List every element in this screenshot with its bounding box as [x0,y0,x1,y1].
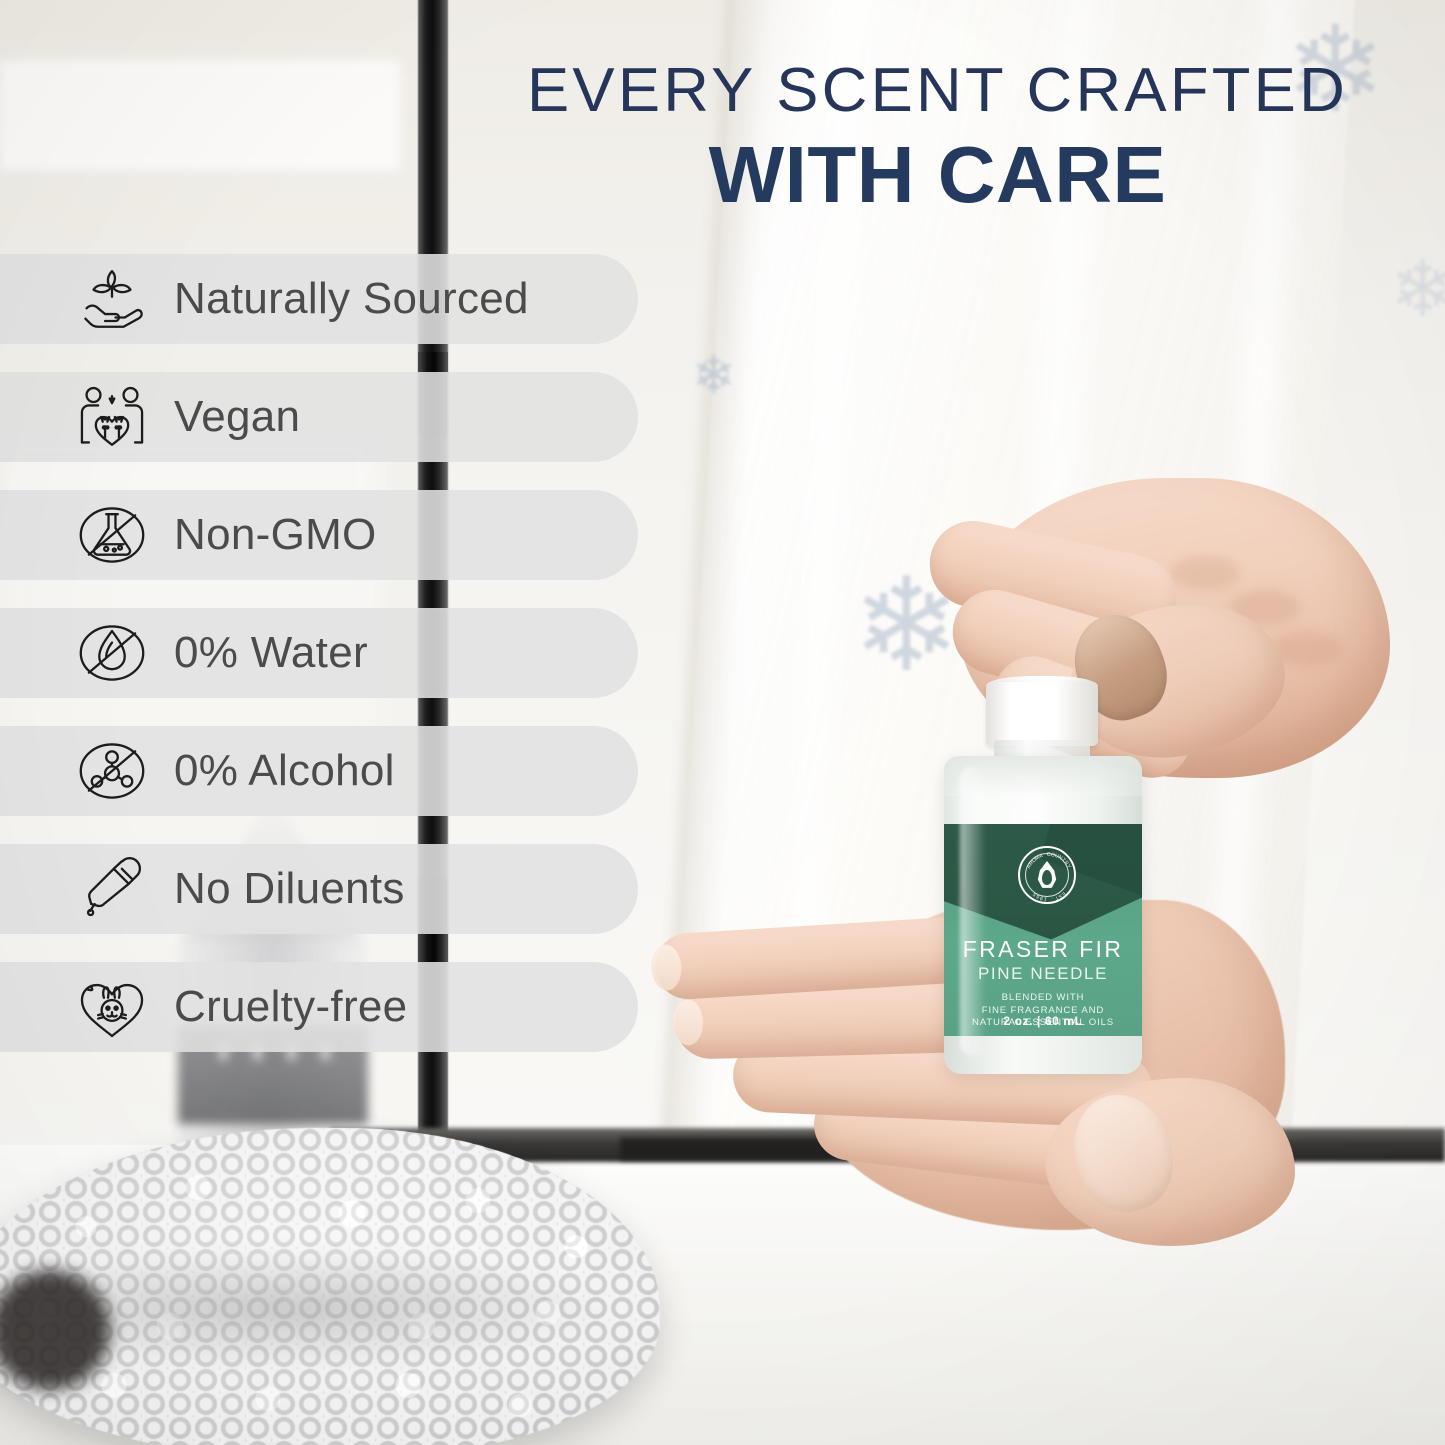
rabbit-heart-icon [72,970,152,1044]
hand-with-leaves-icon [72,262,152,336]
no-molecule-icon [72,734,152,808]
feature-label: No Diluents [174,864,405,914]
dropper-pipette-icon [72,852,152,926]
feature-label: 0% Water [174,628,368,678]
feature-badge-vegan[interactable]: Vegan [0,372,638,462]
feature-badge-list: Naturally Sourced [0,254,700,1080]
feature-badge-zero-alcohol[interactable]: 0% Alcohol [0,726,638,816]
feature-badge-no-diluents[interactable]: No Diluents [0,844,638,934]
snowflake-icon: ❄ [1390,250,1445,328]
product-description-line-1: BLENDED WITH [1002,992,1085,1003]
feature-label: Non-GMO [174,510,377,560]
headline-line-2: WITH CARE [480,133,1395,216]
no-water-drop-icon [72,616,152,690]
brand-seal-text: EST. 1965 [1020,848,1078,906]
family-heart-pets-icon [72,380,152,454]
feature-label: Naturally Sourced [174,274,529,324]
background-wall-panel [0,60,400,170]
feature-label: 0% Alcohol [174,746,395,796]
feature-badge-zero-water[interactable]: 0% Water [0,608,638,698]
feature-badge-non-gmo[interactable]: Non-GMO [0,490,638,580]
product-marketing-image: ❄ ❄ ❄ ❄ ❄ EVERY SCENT CRAFTED WITH CARE [0,0,1445,1445]
product-bottle: AROMA COUNTRYEST. 1965 FRASER FIR PINE N… [938,682,1148,1074]
no-flask-icon [72,498,152,572]
feature-label: Vegan [174,392,300,442]
bottle-cap [986,682,1098,746]
headline-line-1: EVERY SCENT CRAFTED [471,58,1404,123]
product-photography-scene: AROMA COUNTRYEST. 1965 FRASER FIR PINE N… [620,440,1380,1300]
feature-badge-naturally-sourced[interactable]: Naturally Sourced [0,254,638,344]
bottle-highlight [960,766,986,1056]
page-title: EVERY SCENT CRAFTED WITH CARE [480,58,1395,216]
brand-seal: AROMA COUNTRYEST. 1965 [1018,846,1076,904]
feature-label: Cruelty-free [174,982,407,1032]
feature-badge-cruelty-free[interactable]: Cruelty-free [0,962,638,1052]
